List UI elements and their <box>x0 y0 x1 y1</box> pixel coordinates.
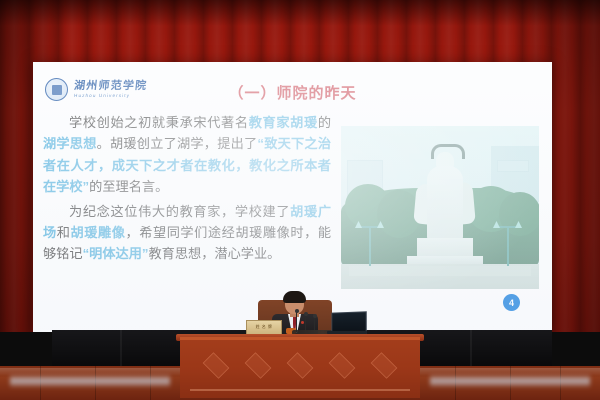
body-text: 学校创始之初就秉承宋代著名 <box>69 115 249 130</box>
auditorium-stage-scene: 湖州师范学院 Huzhou University （一）师院的昨天 学校创始之初… <box>0 0 600 400</box>
body-text: 和 <box>57 225 71 240</box>
microphone-head-icon <box>313 314 317 318</box>
body-text: 。胡瑗创立了湖学，提出了 <box>97 136 258 151</box>
photo-building-detail <box>497 160 529 172</box>
slide-body-text: 学校创始之初就秉承宋代著名教育家胡瑗的湖学思想。胡瑗创立了湖学，提出了“致天下之… <box>43 112 331 268</box>
microphone-head-icon <box>295 309 299 313</box>
microphone-head-icon <box>304 312 308 316</box>
body-text: 为纪念这位伟大的教育家，学校建了 <box>69 204 290 219</box>
highlighted-text: 胡瑗雕像 <box>71 225 126 240</box>
photo-walkway <box>349 266 531 276</box>
highlighted-text: “明体达用” <box>83 246 149 261</box>
paragraph-2: 为纪念这位伟大的教育家，学校建了胡瑗广场和胡瑗雕像，希望同学们途经胡瑗雕像时，能… <box>43 201 331 265</box>
photo-tree <box>499 192 539 236</box>
nameplate-text: 姓 名 牌 <box>247 324 281 330</box>
highlighted-text: 教育家胡瑗 <box>249 115 318 130</box>
floor-light-reflection <box>10 374 170 388</box>
lamp-post-icon <box>507 226 509 266</box>
highlighted-text: 湖学思想 <box>43 136 97 151</box>
page-number-badge: 4 <box>503 294 520 311</box>
statue-photo <box>341 126 539 289</box>
podium-rail <box>190 389 410 391</box>
slide-title: （一）师院的昨天 <box>33 82 552 103</box>
statue-body <box>427 166 463 240</box>
body-text: 的 <box>318 115 331 130</box>
microphone-icon <box>296 312 297 332</box>
lamp-post-icon <box>369 226 371 266</box>
body-text: 的至理名言。 <box>89 179 168 194</box>
statue-pedestal-upper <box>417 238 473 258</box>
body-text: 教育思想，潜心学业。 <box>149 246 281 261</box>
floor-light-reflection <box>430 374 590 388</box>
speaker-hair <box>283 291 306 303</box>
paragraph-1: 学校创始之初就秉承宋代著名教育家胡瑗的湖学思想。胡瑗创立了湖学，提出了“致天下之… <box>43 112 331 198</box>
speaker-lapel-pin <box>301 321 304 324</box>
speaker-nameplate: 姓 名 牌 <box>246 320 282 335</box>
